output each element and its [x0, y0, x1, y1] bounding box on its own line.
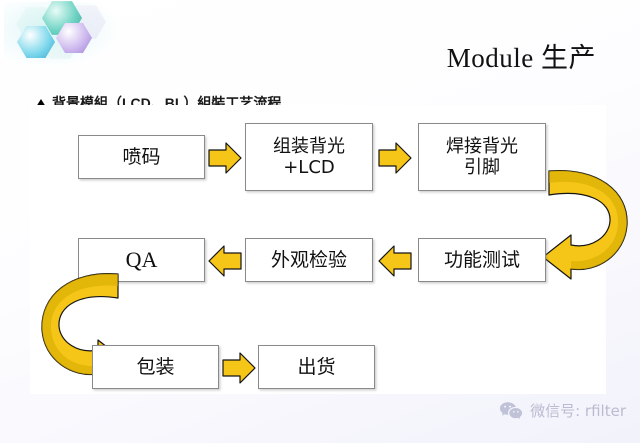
flow-box-pack-label: 包装	[136, 356, 174, 378]
flow-box-visual-label: 外观检验	[271, 249, 347, 271]
arrow-left-visual-to-qa	[207, 244, 243, 278]
wechat-icon	[499, 401, 523, 421]
slide-canvas: Module 生产 背景模組（LCD、BL）組裝工艺流程 喷码 组装背光 +LC…	[0, 0, 640, 443]
flow-box-shipping[interactable]: 出货	[258, 345, 375, 389]
hexagon-faint-icon	[66, 4, 106, 40]
flow-box-ship-label: 出货	[297, 356, 335, 378]
hexagon-faint-icon	[16, 6, 56, 42]
flow-box-penma[interactable]: 喷码	[78, 135, 205, 179]
flow-box-assemble[interactable]: 组装背光 +LCD	[245, 123, 373, 191]
flow-box-solder-line2: 引脚	[446, 157, 518, 178]
hexagon-faint-icon	[40, 24, 80, 60]
hexagon-glow	[4, 2, 122, 68]
wechat-id-text: 微信号: rfilter	[530, 400, 626, 421]
arrow-right-penma-to-assemble	[207, 141, 243, 175]
hexagon-cyan-icon	[17, 25, 55, 59]
hexagon-teal-icon	[42, 0, 82, 36]
flow-box-visual-inspection[interactable]: 外观检验	[245, 238, 373, 282]
flow-box-function-test[interactable]: 功能测试	[418, 238, 546, 282]
flow-box-penma-label: 喷码	[122, 146, 160, 168]
wechat-watermark: 微信号: rfilter	[499, 400, 626, 421]
arrow-right-pack-to-ship	[221, 351, 257, 385]
flow-box-assemble-line2: +LCD	[273, 157, 345, 178]
flow-box-solder-line1: 焊接背光	[446, 136, 518, 157]
flow-box-packaging[interactable]: 包装	[92, 345, 219, 389]
arrow-left-function-to-visual	[377, 244, 413, 278]
arrow-right-assemble-to-solder	[377, 141, 413, 175]
hexagon-cluster	[4, 2, 124, 72]
flow-box-solder[interactable]: 焊接背光 引脚	[418, 123, 546, 191]
arrow-curve-solder-to-function	[535, 165, 635, 280]
flow-box-function-label: 功能测试	[444, 249, 520, 271]
diagram-panel: 喷码 组装背光 +LCD 焊接背光 引脚	[30, 105, 606, 394]
flow-box-assemble-line1: 组装背光	[273, 136, 345, 157]
hexagon-purple-icon	[56, 22, 92, 54]
page-title: Module 生产	[447, 36, 596, 75]
